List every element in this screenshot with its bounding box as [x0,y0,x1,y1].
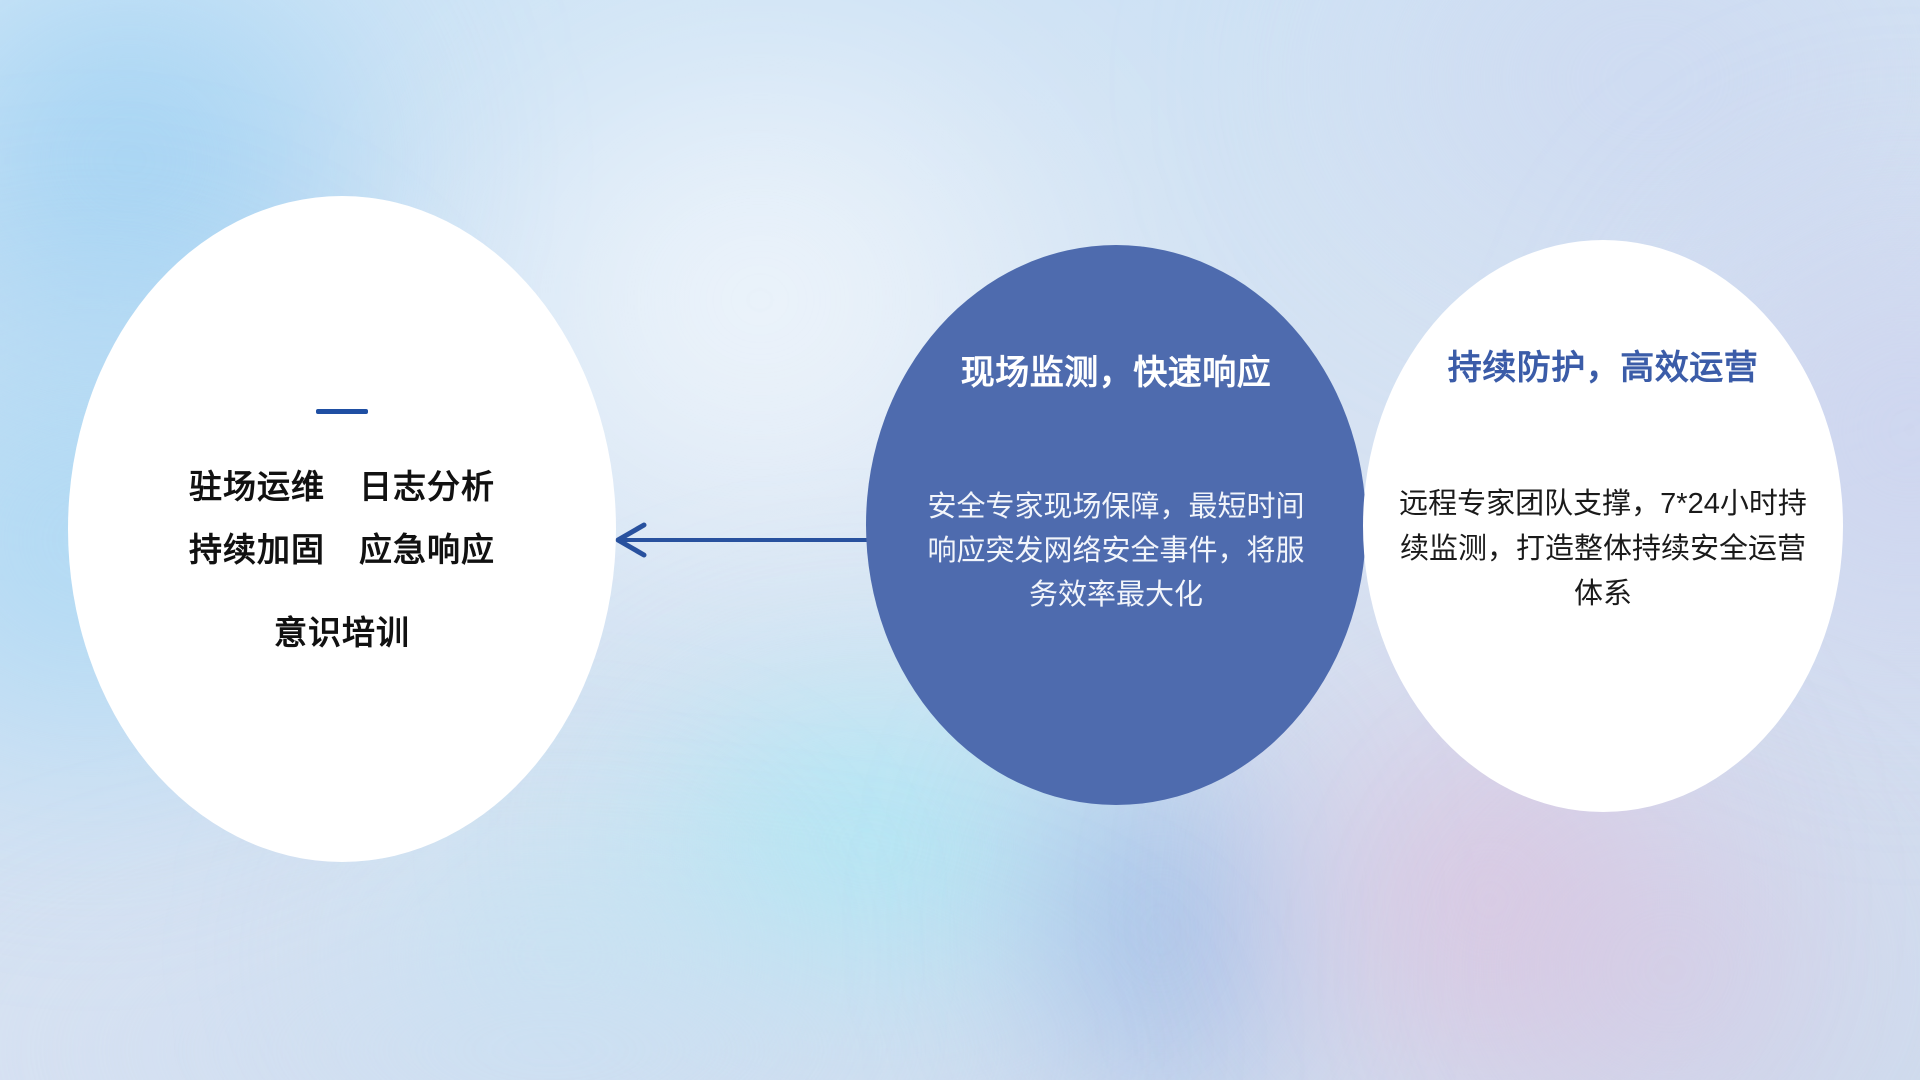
onsite-monitoring-body: 安全专家现场保障，最短时间响应突发网络安全事件，将服务效率最大化 [914,485,1318,617]
left-keyword-row-3: 意识培训 [274,616,410,649]
left-circle-content: 驻场运维 日志分析 持续加固 应急响应 意识培训 [189,409,495,649]
continuous-protection-title: 持续防护，高效运营 [1363,340,1843,389]
connector-arrow-icon [600,505,900,575]
onsite-monitoring-circle[interactable]: 现场监测，快速响应 安全专家现场保障，最短时间响应突发网络安全事件，将服务效率最… [866,245,1366,805]
continuous-protection-body: 远程专家团队支撑，7*24小时持续监测，打造整体持续安全运营体系 [1399,482,1807,618]
left-keyword-row-1: 驻场运维 日志分析 [189,470,495,503]
left-service-circle[interactable]: 驻场运维 日志分析 持续加固 应急响应 意识培训 [68,196,616,862]
slide-canvas: 驻场运维 日志分析 持续加固 应急响应 意识培训 现场监测，快速响应 安全专家现… [0,0,1920,1080]
left-keyword-row-2: 持续加固 应急响应 [189,533,495,566]
onsite-monitoring-title: 现场监测，快速响应 [866,345,1366,394]
divider-line [316,409,368,414]
continuous-protection-circle[interactable]: 持续防护，高效运营 远程专家团队支撑，7*24小时持续监测，打造整体持续安全运营… [1363,240,1843,812]
